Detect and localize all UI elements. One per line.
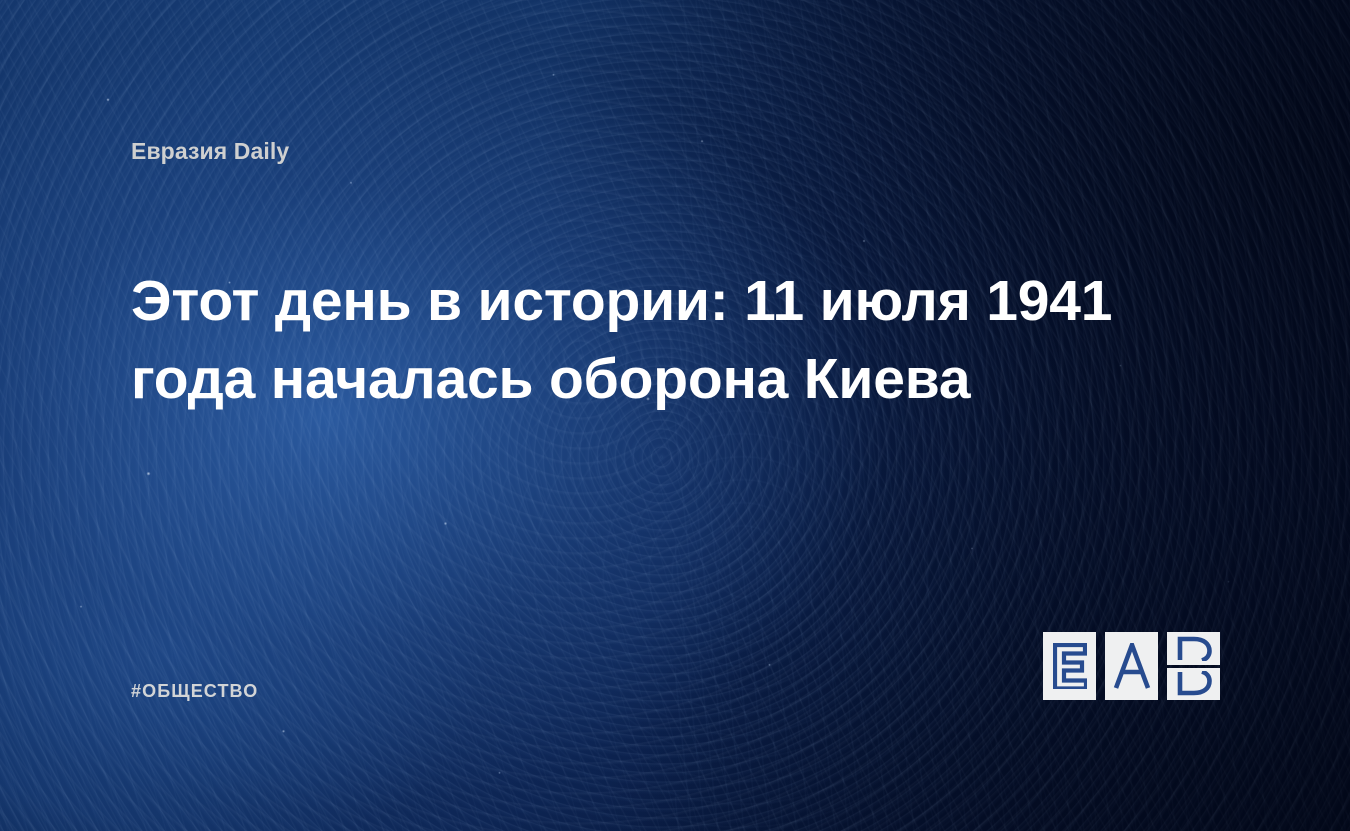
logo-tile-a [1105,632,1158,700]
site-name: Евразия Daily [131,138,289,165]
logo-tile-d-bottom [1167,668,1220,701]
page-title: Этот день в истории: 11 июля 1941 года н… [131,262,1246,418]
letter-e-icon [1053,643,1087,689]
letter-a-icon [1113,643,1151,689]
d-lower-half-icon [1174,671,1214,696]
card-content: Евразия Daily Этот день в истории: 11 ию… [0,0,1350,831]
logo-tile-d-top [1167,632,1220,665]
category-tag: #ОБЩЕСТВО [131,681,258,702]
logo-split-d-mark [1167,632,1220,700]
logo-tile-e [1043,632,1096,700]
social-share-card: Евразия Daily Этот день в истории: 11 ию… [0,0,1350,831]
eadaily-logo [1043,632,1220,700]
d-upper-half-icon [1174,636,1214,661]
